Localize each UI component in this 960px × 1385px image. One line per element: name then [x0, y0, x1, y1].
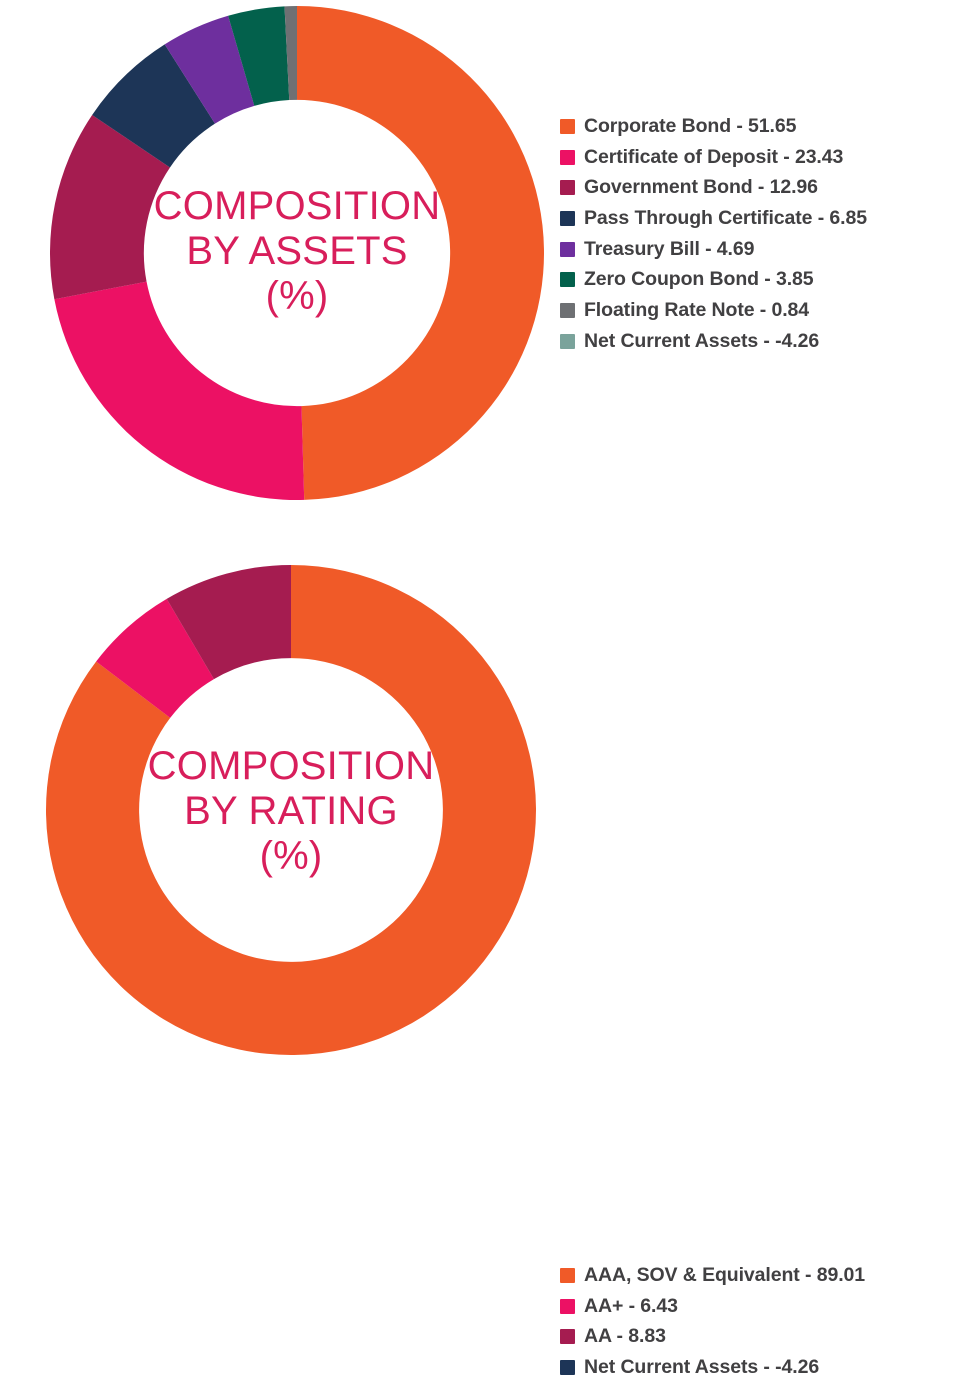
legend-item[interactable]: Government Bond - 12.96	[560, 174, 960, 202]
legend-color-swatch	[560, 272, 575, 287]
legend-item[interactable]: Net Current Assets - -4.26	[560, 328, 960, 356]
legend-item-label: Floating Rate Note - 0.84	[584, 297, 809, 325]
legend-color-swatch	[560, 180, 575, 195]
legend-color-swatch	[560, 303, 575, 318]
legend-item[interactable]: Treasury Bill - 4.69	[560, 236, 960, 264]
assets-slice-group	[50, 6, 544, 500]
legend-item-label: Net Current Assets - -4.26	[584, 1354, 819, 1382]
legend-item[interactable]: AA - 8.83	[560, 1323, 955, 1351]
legend-item-label: Net Current Assets - -4.26	[584, 328, 819, 356]
legend-color-swatch	[560, 242, 575, 257]
composition-by-rating-chart: COMPOSITION BY RATING (%) AAA, SOV & Equ…	[0, 540, 960, 1072]
legend-item-label: AA+ - 6.43	[584, 1293, 678, 1321]
legend-color-swatch	[560, 211, 575, 226]
rating-donut: COMPOSITION BY RATING (%)	[46, 565, 536, 1055]
donut-slice[interactable]	[297, 6, 544, 500]
composition-by-assets-chart: COMPOSITION BY ASSETS (%) Corporate Bond…	[0, 0, 960, 520]
legend-item[interactable]: Pass Through Certificate - 6.85	[560, 205, 960, 233]
legend-color-swatch	[560, 1360, 575, 1375]
legend-item[interactable]: AAA, SOV & Equivalent - 89.01	[560, 1262, 955, 1290]
legend-item-label: Government Bond - 12.96	[584, 174, 818, 202]
legend-item[interactable]: Zero Coupon Bond - 3.85	[560, 266, 960, 294]
legend-item[interactable]: Net Current Assets - -4.26	[560, 1354, 955, 1382]
legend-color-swatch	[560, 119, 575, 134]
legend-item-label: Pass Through Certificate - 6.85	[584, 205, 867, 233]
legend-color-swatch	[560, 1329, 575, 1344]
legend-item-label: AA - 8.83	[584, 1323, 666, 1351]
legend-item[interactable]: Floating Rate Note - 0.84	[560, 297, 960, 325]
rating-donut-svg	[46, 565, 536, 1055]
assets-donut-svg	[50, 6, 544, 500]
legend-item[interactable]: AA+ - 6.43	[560, 1293, 955, 1321]
assets-donut: COMPOSITION BY ASSETS (%)	[50, 6, 544, 500]
donut-slice[interactable]	[54, 282, 304, 500]
assets-legend: Corporate Bond - 51.65 Certificate of De…	[560, 113, 960, 359]
rating-slice-group	[46, 565, 536, 1055]
rating-legend: AAA, SOV & Equivalent - 89.01 AA+ - 6.43…	[560, 1262, 955, 1385]
legend-item[interactable]: Corporate Bond - 51.65	[560, 113, 960, 141]
legend-item-label: Treasury Bill - 4.69	[584, 236, 754, 264]
legend-item-label: Certificate of Deposit - 23.43	[584, 144, 843, 172]
legend-item-label: Corporate Bond - 51.65	[584, 113, 796, 141]
legend-color-swatch	[560, 1299, 575, 1314]
legend-item-label: AAA, SOV & Equivalent - 89.01	[584, 1262, 865, 1290]
legend-color-swatch	[560, 150, 575, 165]
legend-color-swatch	[560, 1268, 575, 1283]
legend-item-label: Zero Coupon Bond - 3.85	[584, 266, 814, 294]
legend-color-swatch	[560, 334, 575, 349]
legend-item[interactable]: Certificate of Deposit - 23.43	[560, 144, 960, 172]
